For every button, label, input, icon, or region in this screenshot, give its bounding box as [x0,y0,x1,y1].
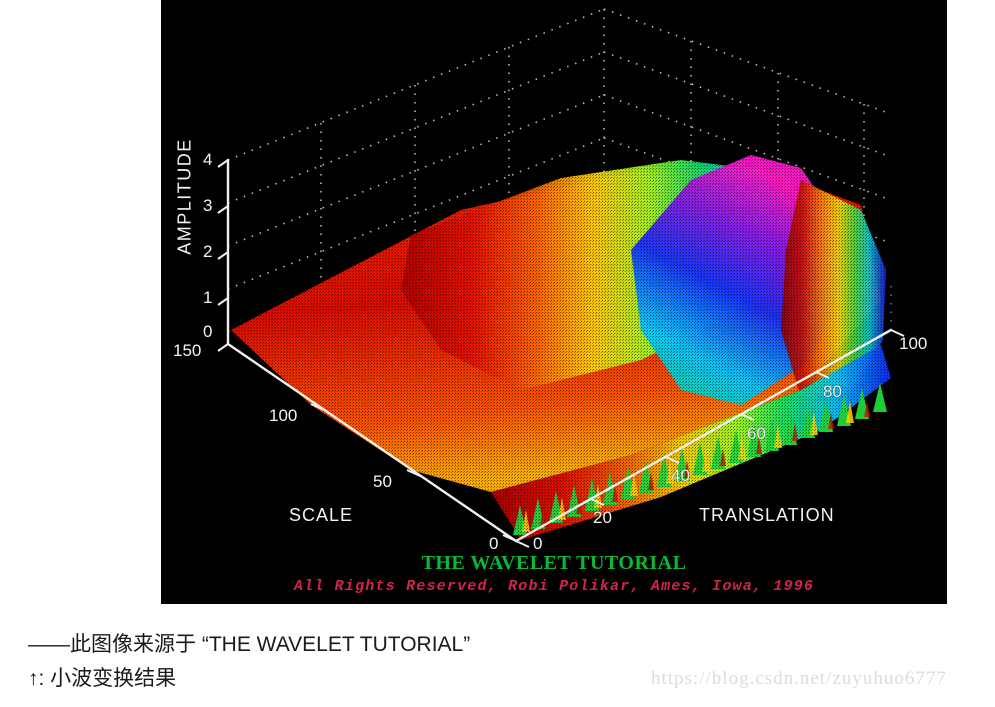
caption-line-source: ——此图像来源于 “THE WAVELET TUTORIAL” [28,628,648,662]
page-root: AMPLITUDE 4 3 2 1 0 150 100 50 0 SCALE 0… [0,0,995,707]
translation-axis-label: TRANSLATION [699,505,835,526]
amplitude-tick-2: 2 [203,242,212,262]
scale-axis-label: SCALE [289,505,353,526]
scale-tick-50: 50 [373,472,392,492]
amplitude-tick-3: 3 [203,196,212,216]
amplitude-tick-0: 0 [203,322,212,342]
translation-tick-20: 20 [593,508,612,528]
amplitude-axis-label: AMPLITUDE [175,137,196,257]
caption-block: ——此图像来源于 “THE WAVELET TUTORIAL” ↑: 小波变换结… [28,628,648,696]
figure-copyright: All Rights Reserved, Robi Polikar, Ames,… [161,578,947,595]
scale-tick-0: 0 [489,534,498,554]
amplitude-tick-4: 4 [203,150,212,170]
scale-tick-150: 150 [173,341,201,361]
wavelet-surface-figure: AMPLITUDE 4 3 2 1 0 150 100 50 0 SCALE 0… [161,0,947,604]
translation-tick-100: 100 [899,334,927,354]
blog-watermark: https://blog.csdn.net/zuyuhuo6777 [651,668,947,690]
scale-tick-100: 100 [269,406,297,426]
amplitude-ticks [218,160,228,351]
translation-tick-40: 40 [671,466,690,486]
translation-tick-80: 80 [823,382,842,402]
caption-line-description: ↑: 小波变换结果 [28,662,648,696]
figure-title: THE WAVELET TUTORIAL [161,552,947,575]
translation-tick-60: 60 [747,424,766,444]
translation-tick-0: 0 [533,534,542,554]
amplitude-tick-1: 1 [203,288,212,308]
